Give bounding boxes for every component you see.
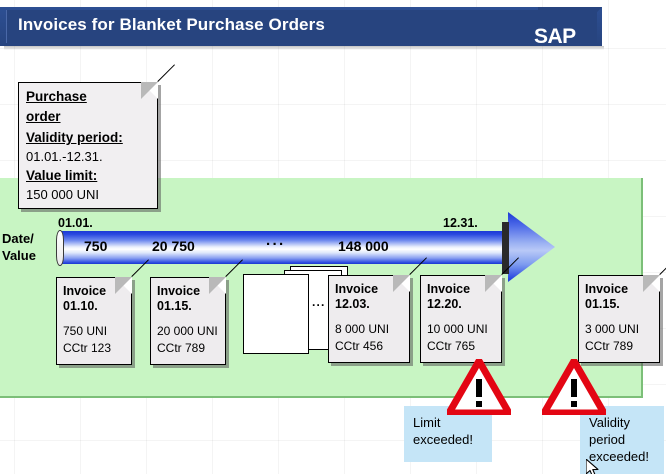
invoice-title: Invoice bbox=[585, 282, 628, 296]
invoice-cost-center: CCtr 789 bbox=[157, 341, 205, 355]
invoice-card-5: Invoice 01.15. 3 000 UNI CCtr 789 bbox=[578, 275, 660, 363]
invoice-date: 01.10. bbox=[63, 299, 98, 313]
invoice-date: 01.15. bbox=[585, 297, 620, 311]
invoice-cost-center: CCtr 456 bbox=[335, 339, 383, 353]
invoice-amount: 10 000 UNI bbox=[427, 322, 488, 336]
invoice-date: 12.03. bbox=[335, 297, 370, 311]
invoice-date: 12.20. bbox=[427, 297, 462, 311]
invoice-card-3: Invoice 12.03. 8 000 UNI CCtr 456 bbox=[328, 275, 410, 363]
cumulative-value-2: 20 750 bbox=[152, 238, 195, 254]
page-fold-shadow-icon bbox=[643, 275, 660, 292]
header-shadow bbox=[4, 46, 604, 50]
po-title-line1: Purchase bbox=[26, 89, 87, 104]
invoice-cost-center: CCtr 123 bbox=[63, 341, 111, 355]
invoice-amount: 20 000 UNI bbox=[157, 324, 218, 338]
invoice-card-2: Invoice 01.15. 20 000 UNI CCtr 789 bbox=[150, 277, 226, 365]
warning-triangle-limit bbox=[447, 359, 511, 415]
page-fold-shadow-icon bbox=[141, 82, 158, 99]
invoice-amount: 3 000 UNI bbox=[585, 322, 639, 336]
invoice-amount: 750 UNI bbox=[63, 324, 107, 338]
invoice-card-4: Invoice 12.20. 10 000 UNI CCtr 765 bbox=[420, 275, 502, 363]
callout-line1: Limit bbox=[413, 414, 483, 431]
po-validity-label: Validity period: bbox=[26, 130, 123, 145]
page-fold-line-icon bbox=[157, 64, 175, 82]
cumulative-value-4: 148 000 bbox=[338, 238, 389, 254]
po-title-line2: order bbox=[26, 109, 61, 124]
invoice-amount: 8 000 UNI bbox=[335, 322, 389, 336]
invoice-title: Invoice bbox=[63, 284, 106, 298]
axis-label: Date/ Value bbox=[2, 230, 36, 264]
po-limit-label: Value limit: bbox=[26, 168, 97, 183]
callout-line2: period bbox=[589, 431, 655, 448]
timeline-end-date: 12.31. bbox=[443, 216, 478, 230]
invoice-title: Invoice bbox=[157, 284, 200, 298]
po-limit-value: 150 000 UNI bbox=[26, 187, 99, 202]
blank-invoice-stack-front bbox=[243, 274, 309, 354]
axis-label-line1: Date/ bbox=[2, 230, 36, 247]
invoice-title: Invoice bbox=[427, 282, 470, 296]
invoice-card-1: Invoice 01.10. 750 UNI CCtr 123 bbox=[56, 277, 132, 365]
timeline-start-marker bbox=[56, 230, 64, 266]
page-fold-line-icon bbox=[659, 257, 666, 275]
invoice-date: 01.15. bbox=[157, 299, 192, 313]
page-fold-shadow-icon bbox=[485, 275, 502, 292]
sap-logo: SAP bbox=[534, 25, 576, 49]
timeline-start-date: 01.01. bbox=[58, 216, 93, 230]
axis-label-line2: Value bbox=[2, 247, 36, 264]
cumulative-value-ellipsis: ··· bbox=[266, 236, 286, 253]
invoice-cost-center: CCtr 765 bbox=[427, 339, 475, 353]
stack-ellipsis: ··· bbox=[312, 298, 326, 312]
mouse-cursor bbox=[586, 459, 600, 474]
callout-line1: Validity bbox=[589, 414, 655, 431]
page-fold-shadow-icon bbox=[209, 277, 226, 294]
slide-canvas: Invoices for Blanket Purchase Orders SAP… bbox=[0, 0, 666, 474]
invoice-title: Invoice bbox=[335, 282, 378, 296]
cumulative-value-1: 750 bbox=[84, 238, 107, 254]
invoice-cost-center: CCtr 789 bbox=[585, 339, 633, 353]
warning-triangle-validity bbox=[542, 359, 606, 415]
page-fold-shadow-icon bbox=[393, 275, 410, 292]
purchase-order-card: Purchase order Validity period: 01.01.-1… bbox=[18, 82, 158, 209]
page-title: Invoices for Blanket Purchase Orders bbox=[18, 15, 325, 35]
page-fold-shadow-icon bbox=[115, 277, 132, 294]
callout-line2: exceeded! bbox=[413, 431, 483, 448]
po-validity-value: 01.01.-12.31. bbox=[26, 149, 103, 164]
slide-header: Invoices for Blanket Purchase Orders SAP bbox=[0, 7, 666, 46]
